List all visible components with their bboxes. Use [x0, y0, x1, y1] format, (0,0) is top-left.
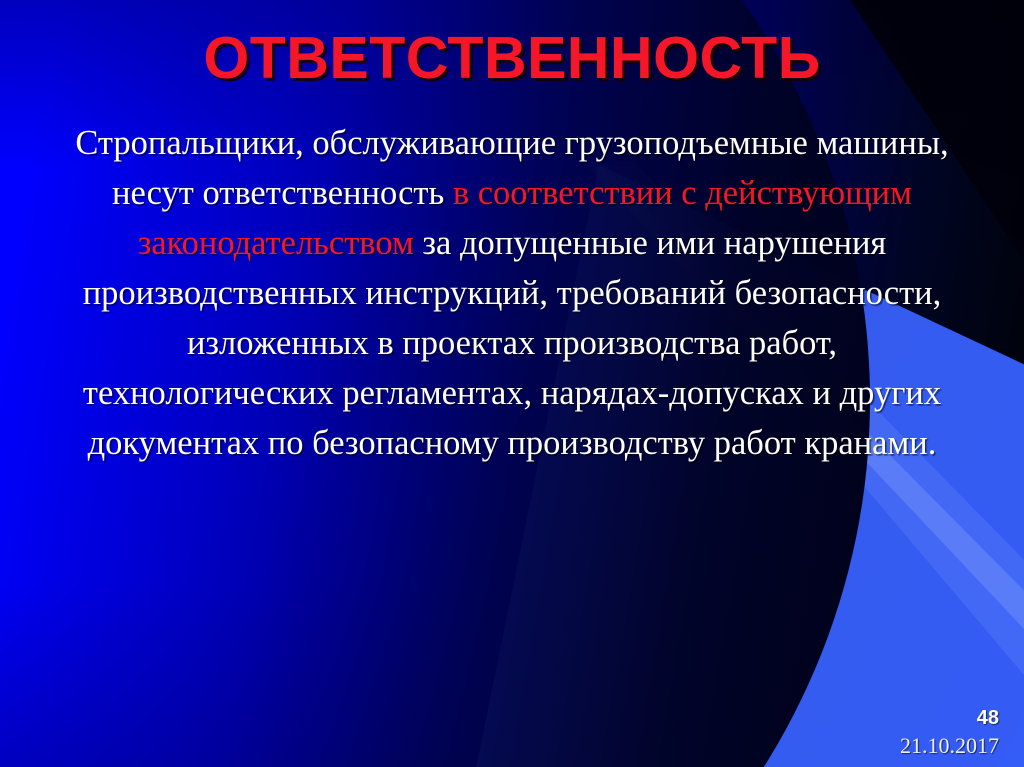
slide-content: ОТВЕТСТВЕННОСТЬ Стропальщики, обслуживаю… — [0, 0, 1024, 767]
slide-body-text: Стропальщики, обслуживающие грузоподъемн… — [58, 118, 966, 468]
presentation-slide: ОТВЕТСТВЕННОСТЬ Стропальщики, обслуживаю… — [0, 0, 1024, 767]
slide-number: 48 — [977, 707, 999, 730]
slide-title: ОТВЕТСТВЕННОСТЬ — [0, 24, 1024, 92]
slide-date: 21.10.2017 — [900, 733, 999, 759]
